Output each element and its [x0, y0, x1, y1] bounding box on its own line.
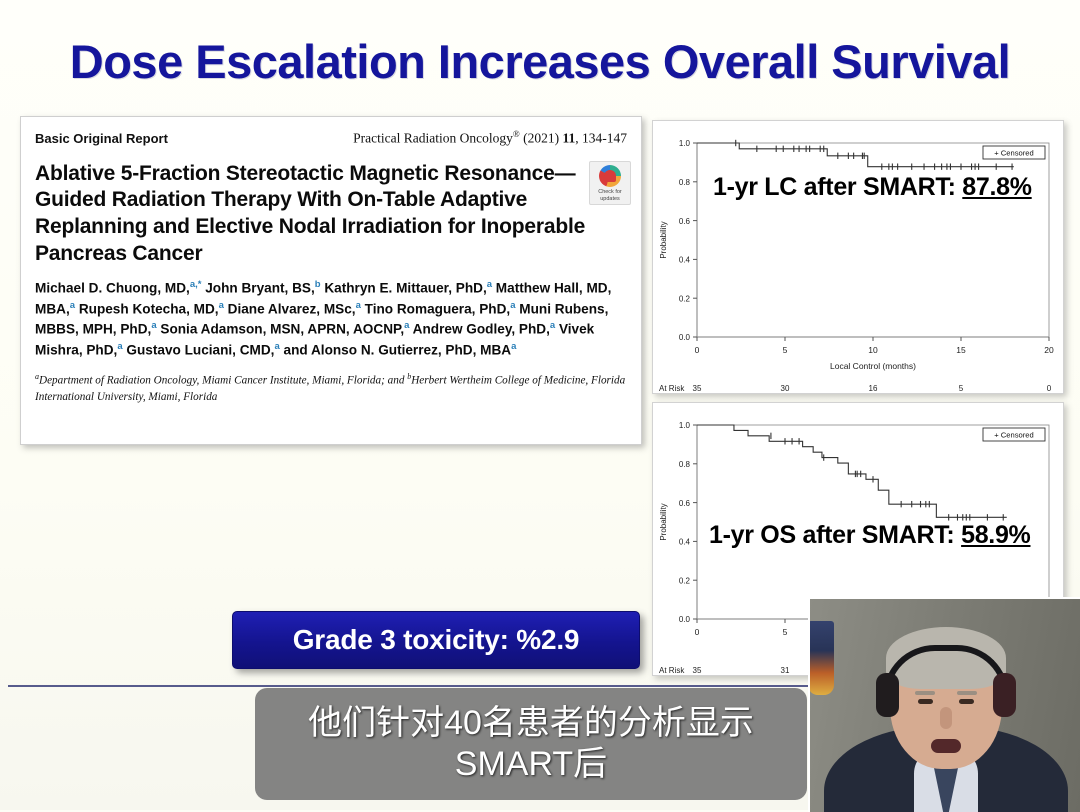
check-for-updates-badge[interactable]: Check forupdates [589, 161, 631, 205]
svg-text:Local Control (months): Local Control (months) [830, 361, 916, 371]
presenter-eye-left [918, 699, 933, 704]
author-name: Rupesh Kotecha, MD, [75, 301, 219, 316]
svg-text:35: 35 [693, 666, 702, 675]
svg-text:31: 31 [781, 666, 790, 675]
kaplan-meier-local-control-chart: 0.00.20.40.60.81.005101520ProbabilityLoc… [652, 120, 1064, 394]
svg-text:30: 30 [781, 384, 790, 393]
svg-text:1.0: 1.0 [679, 139, 691, 148]
svg-text:10: 10 [868, 345, 878, 355]
lc-annotation-value: 87.8% [962, 173, 1031, 201]
author-name: Sonia Adamson, MSN, APRN, AOCNP, [157, 322, 405, 337]
lc-annotation-text: 1-yr LC after SMART: [713, 173, 962, 201]
lc-annotation: 1-yr LC after SMART: 87.8% [713, 173, 1032, 202]
svg-text:5: 5 [959, 384, 964, 393]
author-name: Tino Romaguera, PhD, [361, 301, 510, 316]
author-name: Gustavo Luciani, CMD, [123, 342, 275, 357]
affil-a: Department of Radiation Oncology, Miami … [39, 375, 407, 387]
svg-text:0.2: 0.2 [679, 576, 691, 585]
author-affil-marker: a,* [190, 279, 202, 290]
paper-header: Basic Original Report Practical Radiatio… [35, 129, 627, 147]
presenter-nose [940, 707, 952, 729]
svg-text:1.0: 1.0 [679, 421, 691, 430]
svg-text:+ Censored: + Censored [994, 430, 1033, 439]
svg-text:16: 16 [869, 384, 878, 393]
badge-text: Check forupdates [598, 189, 622, 203]
svg-text:0: 0 [1047, 384, 1052, 393]
author-name: Michael D. Chuong, MD, [35, 281, 190, 296]
page-title: Dose Escalation Increases Overall Surviv… [0, 34, 1080, 89]
paper-authors: Michael D. Chuong, MD,a,* John Bryant, B… [35, 278, 615, 360]
paper-journal-line: Practical Radiation Oncology® (2021) 11,… [353, 129, 627, 147]
journal-registered-mark: ® [513, 129, 520, 139]
os-annotation: 1-yr OS after SMART: 58.9% [709, 521, 1030, 550]
os-annotation-value: 58.9% [961, 521, 1030, 549]
author-name: Diane Alvarez, MSc, [224, 301, 356, 316]
subtitle-overlay: 他们针对40名患者的分析显示 SMART后 [255, 688, 807, 800]
headphone-earcup-left-icon [876, 673, 899, 717]
svg-text:0.6: 0.6 [679, 217, 691, 226]
svg-text:At Risk: At Risk [659, 384, 685, 393]
svg-text:At Risk: At Risk [659, 666, 685, 675]
svg-text:15: 15 [956, 345, 966, 355]
subtitle-line-1: 他们针对40名患者的分析显示 [308, 703, 754, 744]
journal-name: Practical Radiation Oncology [353, 131, 513, 146]
svg-text:20: 20 [1044, 345, 1054, 355]
os-annotation-text: 1-yr OS after SMART: [709, 521, 961, 549]
svg-text:Probability: Probability [659, 503, 668, 540]
svg-text:Probability: Probability [659, 221, 668, 258]
presenter-webcam-video[interactable] [808, 597, 1080, 812]
svg-text:0: 0 [695, 627, 700, 637]
svg-text:0.0: 0.0 [679, 615, 691, 624]
author-name: John Bryant, BS, [201, 281, 314, 296]
grade3-toxicity-callout: Grade 3 toxicity: %2.9 [232, 611, 640, 669]
svg-text:0.0: 0.0 [679, 333, 691, 342]
slide-divider-line [8, 685, 830, 687]
svg-text:0.4: 0.4 [679, 256, 691, 265]
presenter-mouth [931, 739, 961, 753]
paper-screenshot-panel: Basic Original Report Practical Radiatio… [20, 116, 642, 445]
svg-text:0: 0 [695, 345, 700, 355]
svg-text:+ Censored: + Censored [994, 148, 1033, 157]
crossmark-icon [599, 165, 621, 187]
author-name: Kathryn E. Mittauer, PhD, [321, 281, 487, 296]
svg-text:0.2: 0.2 [679, 294, 691, 303]
paper-title: Ablative 5-Fraction Stereotactic Magneti… [35, 161, 595, 269]
svg-text:5: 5 [783, 627, 788, 637]
author-affil-marker: a [511, 341, 516, 352]
journal-pages: , 134-147 [575, 131, 627, 146]
presenter-eyebrow-left [915, 691, 935, 695]
subtitle-line-2: SMART后 [455, 744, 607, 785]
presenter-eyebrow-right [957, 691, 977, 695]
svg-text:0.8: 0.8 [679, 178, 691, 187]
institution-logo [808, 621, 834, 695]
journal-year: (2021) [523, 131, 559, 146]
lc-chart-svg: 0.00.20.40.60.81.005101520ProbabilityLoc… [653, 121, 1063, 393]
svg-text:35: 35 [693, 384, 702, 393]
svg-text:0.8: 0.8 [679, 460, 691, 469]
journal-volume: 11 [562, 131, 575, 146]
paper-affiliations: aDepartment of Radiation Oncology, Miami… [35, 371, 627, 406]
slide-canvas: Dose Escalation Increases Overall Surviv… [0, 0, 1080, 810]
svg-text:0.6: 0.6 [679, 499, 691, 508]
presenter-eye-right [959, 699, 974, 704]
author-name: Andrew Godley, PhD, [409, 322, 549, 337]
author-name: and Alonso N. Gutierrez, PhD, MBA [280, 342, 511, 357]
svg-text:0.4: 0.4 [679, 538, 691, 547]
headphone-earcup-right-icon [993, 673, 1016, 717]
svg-text:5: 5 [783, 345, 788, 355]
paper-kicker: Basic Original Report [35, 131, 168, 146]
